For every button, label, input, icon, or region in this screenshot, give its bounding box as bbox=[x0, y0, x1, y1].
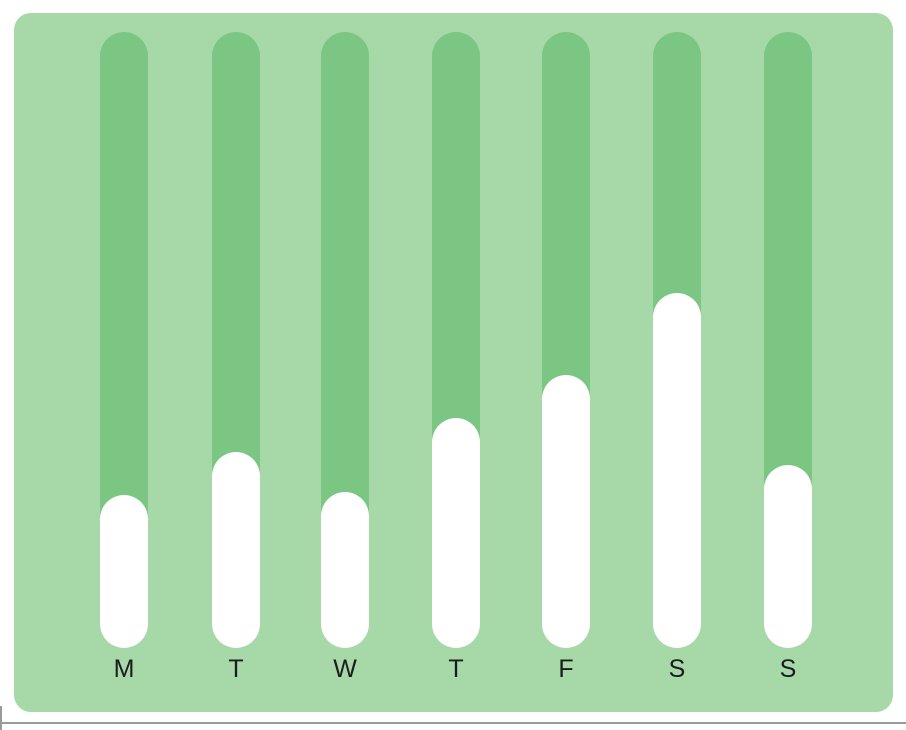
bar-fill bbox=[212, 452, 260, 648]
screenshot-root: M T W T F bbox=[0, 0, 906, 730]
bar-label-monday: M bbox=[100, 654, 148, 684]
weekly-activity-card: M T W T F bbox=[14, 13, 893, 712]
bar-label-sunday: S bbox=[764, 654, 812, 684]
window-edge-rule-left bbox=[0, 706, 2, 730]
bar-fill bbox=[100, 495, 148, 648]
bar-fill bbox=[542, 375, 590, 648]
bar-group-tuesday[interactable] bbox=[212, 32, 260, 648]
bar-label-wednesday: W bbox=[321, 654, 369, 684]
bar-fill bbox=[764, 465, 812, 648]
bar-label-tuesday: T bbox=[212, 654, 260, 684]
bar-fill bbox=[432, 418, 480, 648]
bar-chart-plot-area: M T W T F bbox=[14, 13, 893, 712]
bar-label-thursday: T bbox=[432, 654, 480, 684]
bar-group-sunday[interactable] bbox=[764, 32, 812, 648]
bar-group-saturday[interactable] bbox=[653, 32, 701, 648]
bar-label-friday: F bbox=[542, 654, 590, 684]
bar-group-monday[interactable] bbox=[100, 32, 148, 648]
bar-fill bbox=[321, 492, 369, 648]
bar-label-saturday: S bbox=[653, 654, 701, 684]
bar-group-wednesday[interactable] bbox=[321, 32, 369, 648]
bar-group-friday[interactable] bbox=[542, 32, 590, 648]
bar-fill bbox=[653, 293, 701, 648]
window-edge-rule-bottom bbox=[0, 722, 906, 724]
bar-group-thursday[interactable] bbox=[432, 32, 480, 648]
